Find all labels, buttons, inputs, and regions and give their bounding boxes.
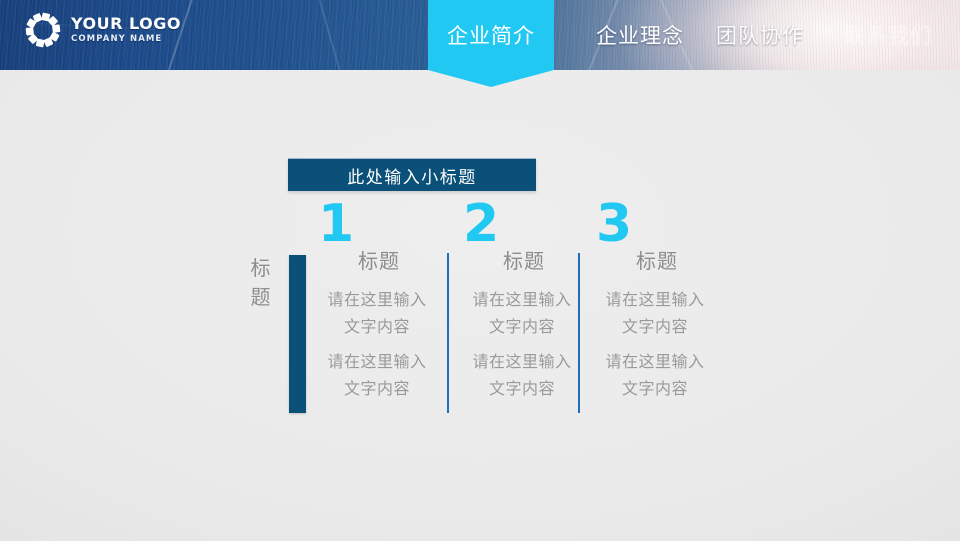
section-title-text: 此处输入小标题 [347, 163, 477, 188]
nav-item-company-profile-active[interactable]: 企业简介 [428, 0, 554, 70]
nav-item-label: 企业理念 [596, 20, 684, 50]
nav-item-company-philosophy[interactable]: 企业理念 [580, 0, 700, 70]
brand-name: YOUR LOGO [71, 16, 181, 32]
brand-logo[interactable]: YOUR LOGO COMPANY NAME [24, 9, 181, 51]
section-title-banner: 此处输入小标题 [288, 158, 536, 191]
nav-item-contact-us[interactable]: 联系我们 [818, 0, 958, 70]
column-number: 2 [463, 198, 499, 250]
column-number: 3 [596, 198, 632, 250]
column-heading: 3 标题 [588, 200, 720, 266]
nav-item-team-collaboration[interactable]: 团队协作 [700, 0, 820, 70]
column-subtitle: 标题 [358, 245, 400, 274]
slide-canvas: YOUR LOGO COMPANY NAME 企业理念 团队协作 联系我们 企业… [0, 0, 960, 541]
column-subtitle: 标题 [636, 245, 678, 274]
column-heading: 1 标题 [310, 200, 442, 266]
accent-bar [289, 255, 306, 413]
side-label-char-2: 题 [251, 283, 272, 312]
vertical-side-label: 标 题 [240, 254, 282, 312]
column-subtitle: 标题 [503, 245, 545, 274]
content-column-1: 1 标题 请在这里输入文字内容 请在这里输入文字内容 [310, 200, 442, 403]
column-paragraph: 请在这里输入文字内容 [322, 287, 432, 341]
column-paragraph: 请在这里输入文字内容 [600, 349, 710, 403]
content-column-2: 2 标题 请在这里输入文字内容 请在这里输入文字内容 [455, 200, 587, 403]
column-paragraph: 请在这里输入文字内容 [322, 349, 432, 403]
brand-tagline: COMPANY NAME [71, 35, 181, 44]
nav-item-label: 企业简介 [447, 20, 535, 50]
column-divider [447, 253, 449, 413]
column-paragraph: 请在这里输入文字内容 [467, 349, 577, 403]
column-paragraph: 请在这里输入文字内容 [600, 287, 710, 341]
column-number: 1 [318, 198, 354, 250]
side-label-char-1: 标 [251, 254, 272, 283]
nav-item-label: 联系我们 [844, 20, 932, 50]
nav-item-label: 团队协作 [716, 20, 804, 50]
column-heading: 2 标题 [455, 200, 587, 266]
content-column-3: 3 标题 请在这里输入文字内容 请在这里输入文字内容 [588, 200, 720, 403]
brand-wordmark: YOUR LOGO COMPANY NAME [71, 16, 181, 44]
starburst-ring-logo-icon [24, 11, 62, 49]
column-paragraph: 请在这里输入文字内容 [467, 287, 577, 341]
